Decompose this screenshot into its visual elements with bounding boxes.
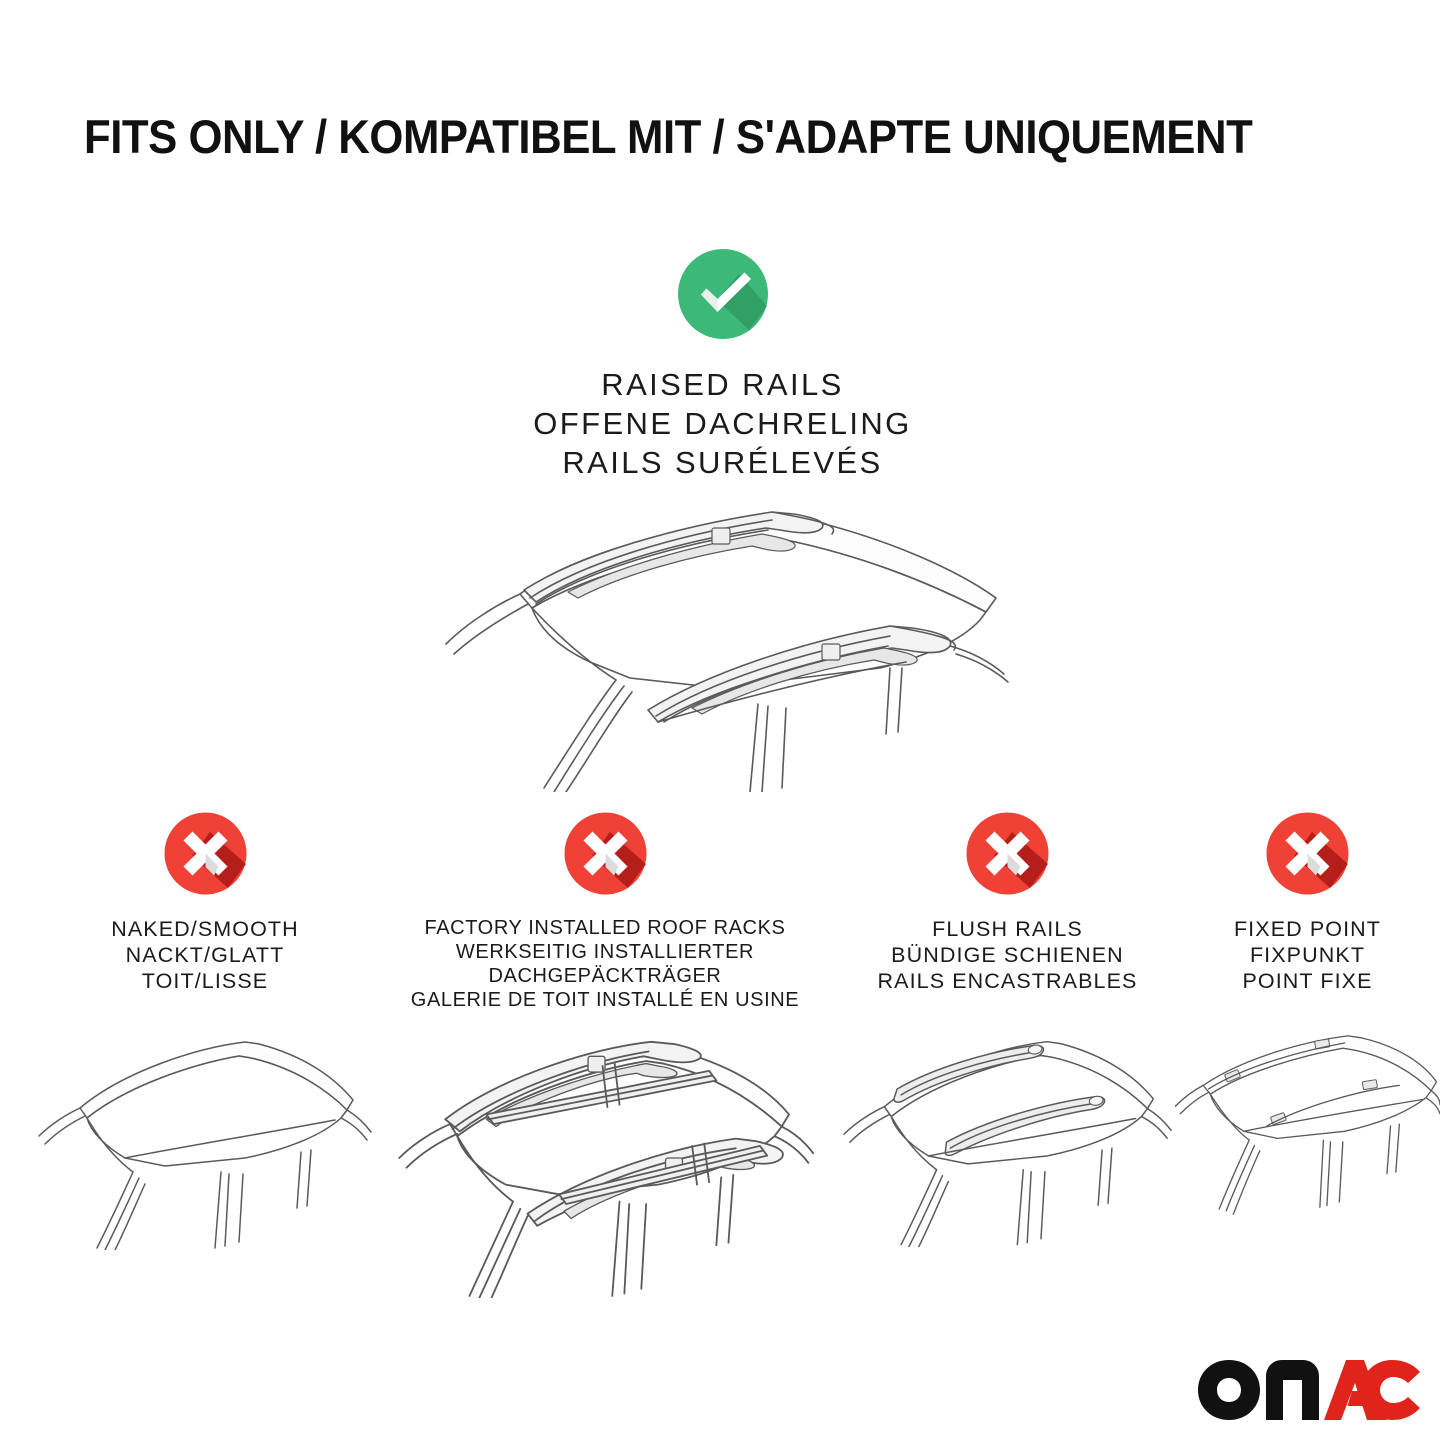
- caption-naked-smooth-fr: TOIT/LISSE: [35, 968, 375, 994]
- caption-naked-smooth-de: NACKT/GLATT: [35, 942, 375, 968]
- caption-factory-rack-de1: WERKSEITIG INSTALLIERTER: [375, 940, 835, 964]
- caption-fixed-point-en: FIXED POINT: [1175, 916, 1440, 942]
- green-check-circle-icon: [677, 248, 769, 340]
- caption-factory-rack-fr: GALERIE DE TOIT INSTALLÉ EN USINE: [375, 988, 835, 1012]
- incompatible-item-naked-smooth: NAKED/SMOOTH NACKT/GLATT TOIT/LISSE: [35, 812, 375, 994]
- incompatible-section: NAKED/SMOOTH NACKT/GLATT TOIT/LISSE: [0, 812, 1445, 1272]
- caption-factory-rack-en: FACTORY INSTALLED ROOF RACKS: [375, 916, 835, 940]
- caption-factory-rack-de2: DACHGEPÄCKTRÄGER: [375, 964, 835, 988]
- caption-flush-rails-de: BÜNDIGE SCHIENEN: [840, 942, 1175, 968]
- compatible-section: RAISED RAILS OFFENE DACHRELING RAILS SUR…: [0, 248, 1445, 482]
- car-roof-flush-rails-illustration: [840, 1020, 1175, 1247]
- red-x-circle-icon: [164, 812, 247, 895]
- caption-flush-rails: FLUSH RAILS BÜNDIGE SCHIENEN RAILS ENCAS…: [840, 916, 1175, 994]
- omac-logo: [1196, 1356, 1422, 1422]
- red-x-circle-icon: [966, 812, 1049, 895]
- car-roof-naked-illustration: [35, 1020, 375, 1250]
- red-x-circle-icon: [1266, 812, 1349, 895]
- compatible-caption: RAISED RAILS OFFENE DACHRELING RAILS SUR…: [0, 365, 1445, 482]
- caption-fixed-point-de: FIXPUNKT: [1175, 942, 1440, 968]
- caption-fixed-point: FIXED POINT FIXPUNKT POINT FIXE: [1175, 916, 1440, 994]
- incompatible-item-fixed-point: FIXED POINT FIXPUNKT POINT FIXE: [1175, 812, 1440, 994]
- caption-factory-rack: FACTORY INSTALLED ROOF RACKS WERKSEITIG …: [375, 916, 835, 1012]
- red-x-circle-icon: [564, 812, 647, 895]
- page-title: FITS ONLY / KOMPATIBEL MIT / S'ADAPTE UN…: [84, 108, 1293, 166]
- car-roof-fixed-point-illustration: [1175, 1020, 1440, 1223]
- caption-flush-rails-en: FLUSH RAILS: [840, 916, 1175, 942]
- car-roof-raised-rails-illustration: [420, 492, 1040, 792]
- incompatible-item-flush-rails: FLUSH RAILS BÜNDIGE SCHIENEN RAILS ENCAS…: [840, 812, 1175, 994]
- omac-logo-letter-m: [1266, 1360, 1319, 1420]
- car-roof-factory-rack-illustration: [375, 1020, 835, 1298]
- caption-naked-smooth: NAKED/SMOOTH NACKT/GLATT TOIT/LISSE: [35, 916, 375, 994]
- caption-flush-rails-fr: RAILS ENCASTRABLES: [840, 968, 1175, 994]
- infographic-canvas: FITS ONLY / KOMPATIBEL MIT / S'ADAPTE UN…: [0, 0, 1445, 1445]
- incompatible-item-factory-rack: FACTORY INSTALLED ROOF RACKS WERKSEITIG …: [375, 812, 835, 1012]
- omac-logo-letter-c: [1361, 1360, 1420, 1420]
- compatible-caption-de: OFFENE DACHRELING: [0, 404, 1445, 443]
- compatible-caption-en: RAISED RAILS: [0, 365, 1445, 404]
- omac-logo-letter-o: [1198, 1360, 1260, 1420]
- caption-fixed-point-fr: POINT FIXE: [1175, 968, 1440, 994]
- compatible-caption-fr: RAILS SURÉLEVÉS: [0, 443, 1445, 482]
- caption-naked-smooth-en: NAKED/SMOOTH: [35, 916, 375, 942]
